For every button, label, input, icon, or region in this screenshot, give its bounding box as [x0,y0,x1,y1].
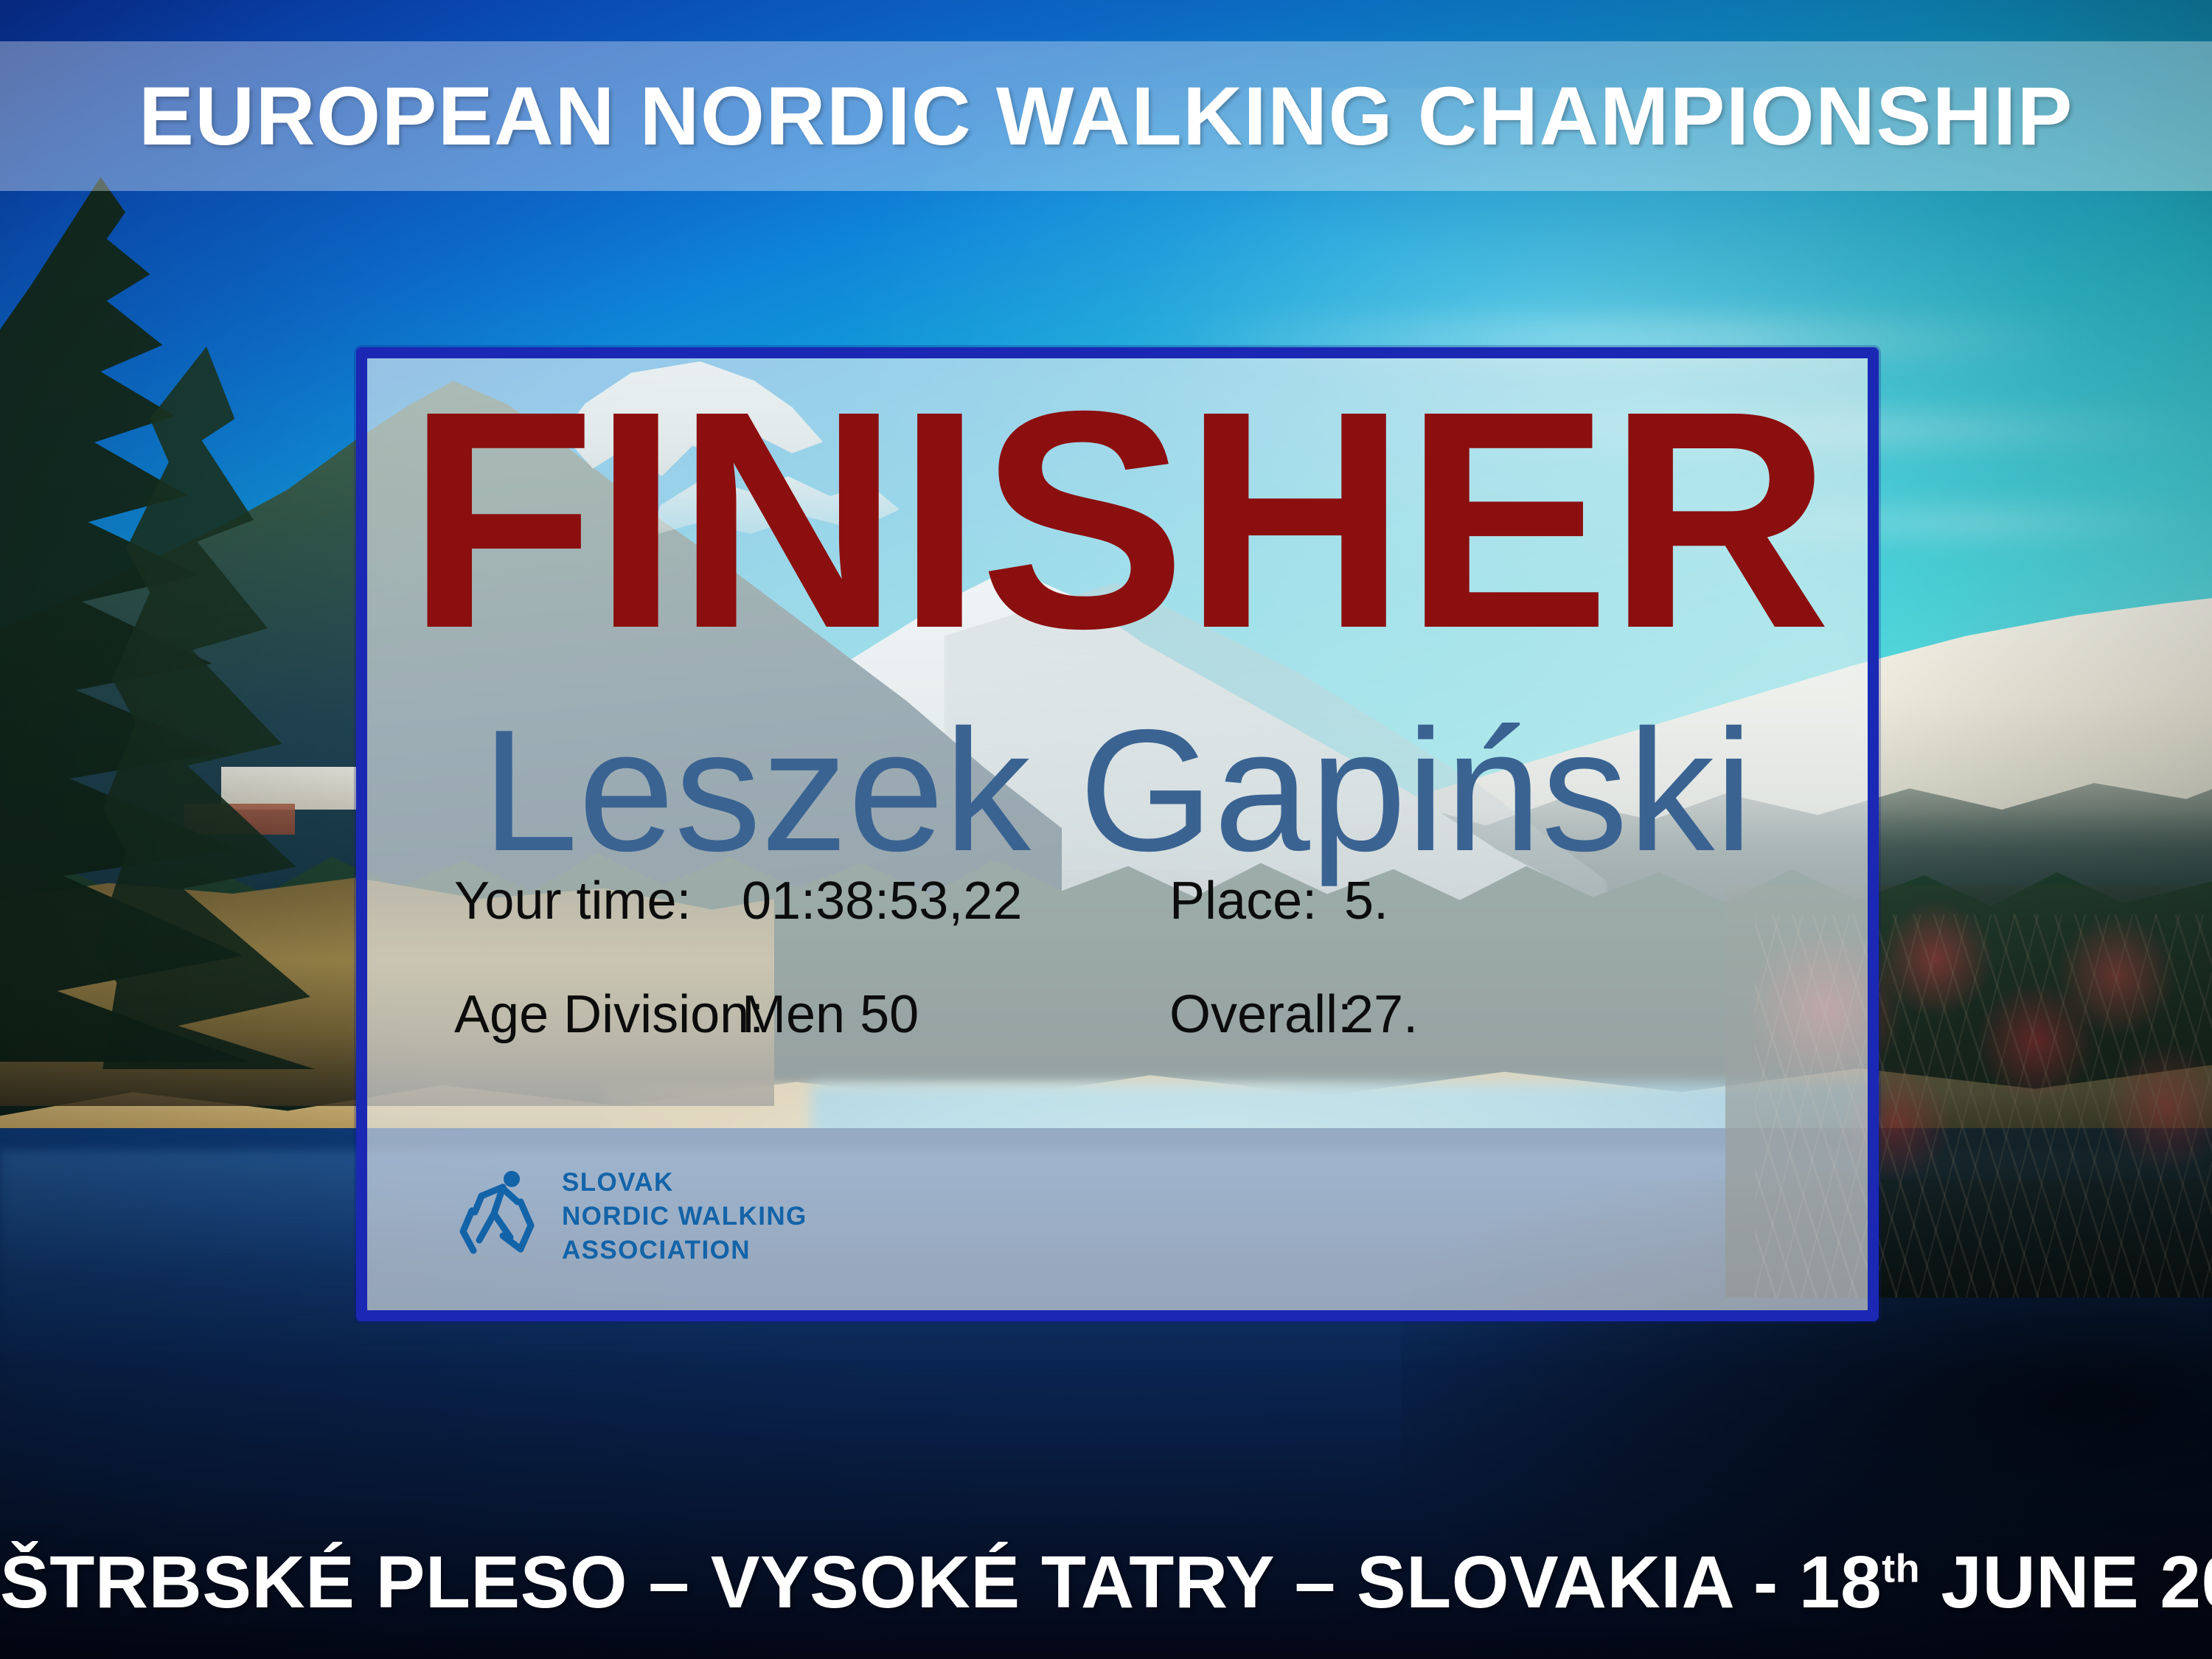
day-suffix: th [1882,1547,1920,1591]
result-stats: Your time: 01:38:53,22 Place: 5. Age Div… [454,874,1774,1102]
place-label: Place: [1169,874,1328,928]
logo-line-2: NORDIC WALKING [562,1200,807,1234]
venue-text: ŠTRBSKÉ PLESO – VYSOKÉ TATRY – SLOVAKIA … [0,1541,1882,1624]
age-division-value: Men 50 [742,988,1074,1041]
logo-line-1: SLOVAK [562,1166,807,1200]
your-time-label: Your time: [454,874,742,928]
finisher-certificate-card: FINISHER Leszek Gapiński Your time: 01:3… [356,347,1879,1321]
your-time-value: 01:38:53,22 [742,874,1074,928]
place-value: 5. [1328,874,1388,928]
slovak-nordic-walking-association-logo: SLOVAK NORDIC WALKING ASSOCIATION [457,1166,807,1268]
certificate-page: EUROPEAN NORDIC WALKING CHAMPIONSHIP FIN… [0,0,2212,1659]
finisher-heading: FINISHER [367,366,1868,675]
event-title: EUROPEAN NORDIC WALKING CHAMPIONSHIP [0,41,2212,191]
walker-head [504,1171,520,1187]
nordic-walker-icon [457,1169,546,1264]
overall-label: Overall: [1169,988,1328,1041]
date-text: JUNE 2016 [1920,1541,2212,1624]
venue-date-caption: ŠTRBSKÉ PLESO – VYSOKÉ TATRY – SLOVAKIA … [0,1540,2212,1625]
stats-row-division: Age Division: Men 50 Overall: 27. [454,988,1774,1041]
logo-line-3: ASSOCIATION [562,1234,807,1267]
stats-row-time: Your time: 01:38:53,22 Place: 5. [454,874,1774,928]
age-division-label: Age Division: [454,988,742,1041]
logo-wordmark: SLOVAK NORDIC WALKING ASSOCIATION [562,1166,807,1268]
overall-value: 27. [1328,988,1418,1041]
athlete-name: Leszek Gapiński [367,703,1868,877]
